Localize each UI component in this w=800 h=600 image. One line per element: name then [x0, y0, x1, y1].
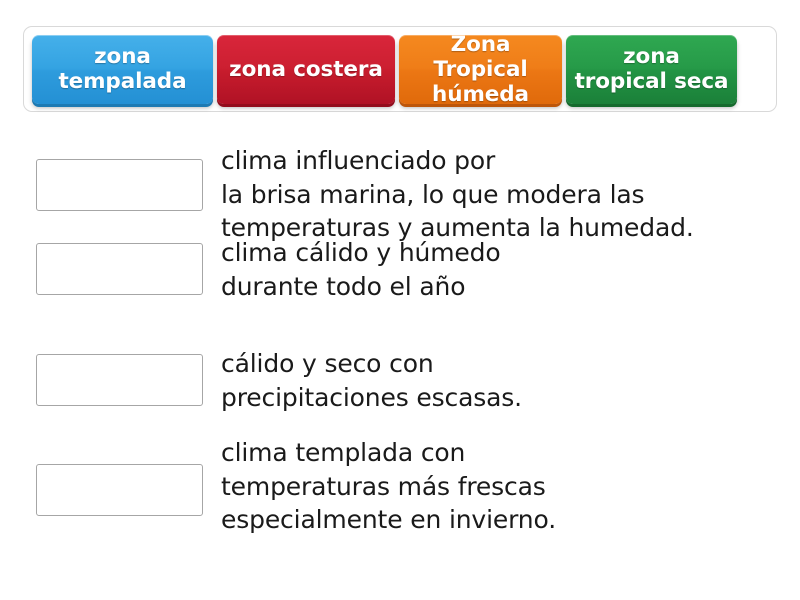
question-text-4: clima templada con temperaturas más fres…: [221, 436, 790, 537]
question-text-1: clima influenciado por la brisa marina, …: [221, 144, 790, 245]
answer-tile-zona-costera[interactable]: zona costera: [217, 35, 395, 104]
answer-tile-tray: zona tempalada zona costera Zona Tropica…: [23, 26, 777, 112]
drop-zone-1[interactable]: [36, 159, 203, 211]
drop-zone-2[interactable]: [36, 243, 203, 295]
drop-zone-4[interactable]: [36, 464, 203, 516]
question-text-3: cálido y seco con precipitaciones escasa…: [221, 347, 790, 414]
drop-zone-3[interactable]: [36, 354, 203, 406]
question-row: clima cálido y húmedo durante todo el añ…: [0, 238, 800, 348]
question-list: clima influenciado por la brisa marina, …: [0, 130, 800, 568]
question-row: clima influenciado por la brisa marina, …: [0, 130, 800, 238]
question-text-2: clima cálido y húmedo durante todo el añ…: [221, 236, 790, 303]
answer-tile-zona-templada[interactable]: zona tempalada: [32, 35, 213, 104]
answer-tile-zona-tropical-humeda[interactable]: Zona Tropical húmeda: [399, 35, 562, 104]
answer-tile-zona-tropical-seca[interactable]: zona tropical seca: [566, 35, 737, 104]
question-row: clima templada con temperaturas más fres…: [0, 458, 800, 568]
